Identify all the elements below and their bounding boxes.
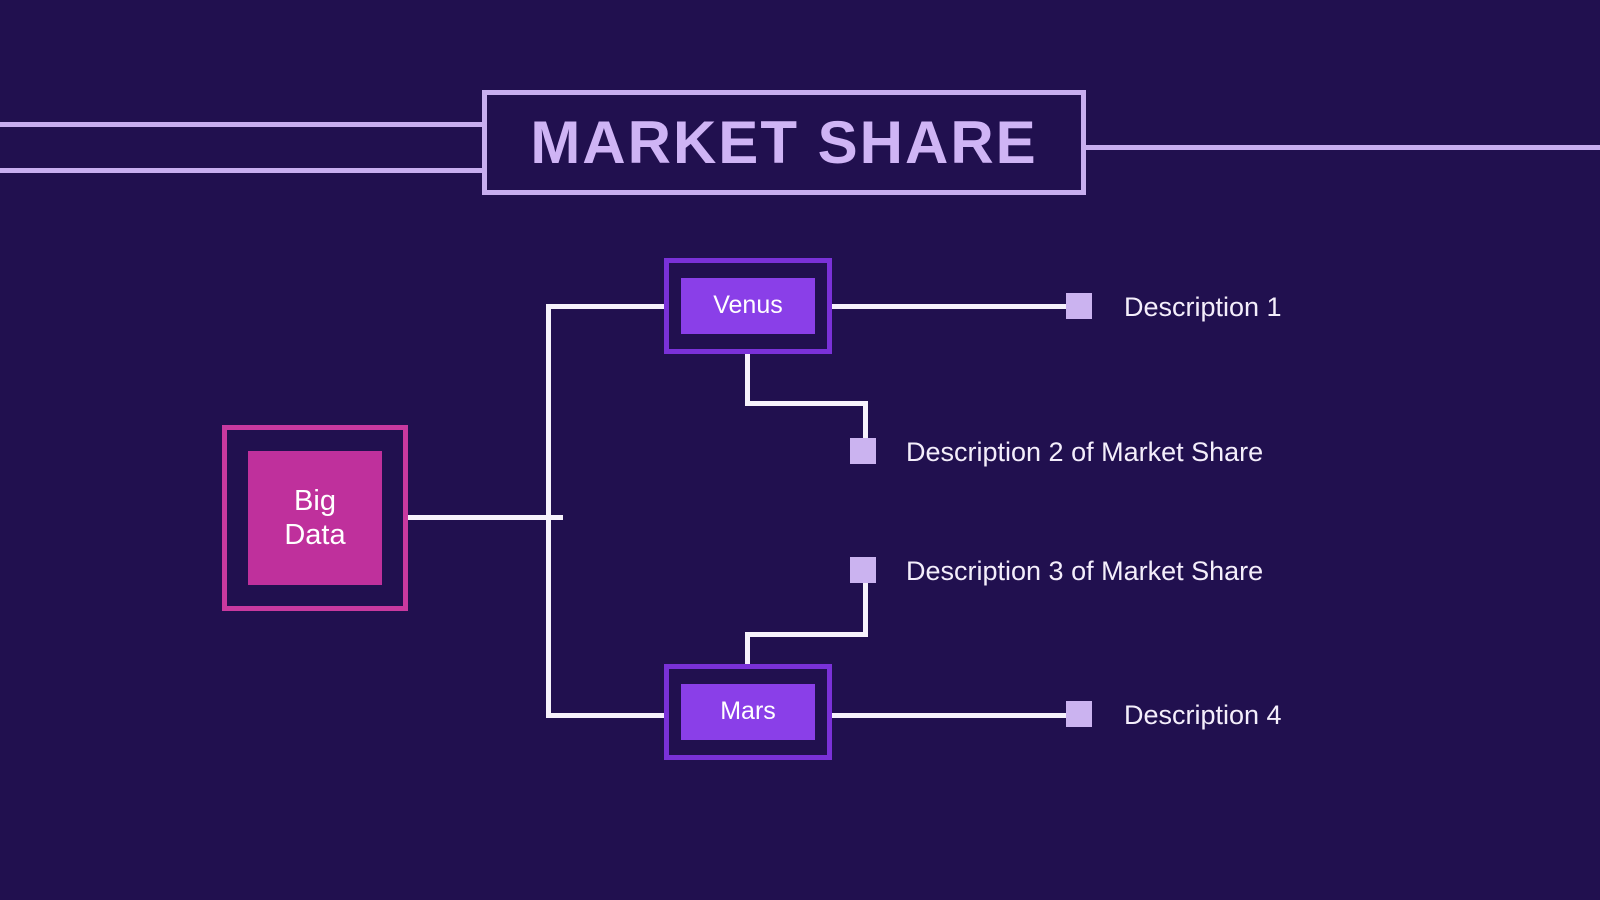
- connector-mars-to-description-4: [810, 713, 1072, 718]
- node-mars-label: Mars: [720, 697, 776, 727]
- connector-description-3-rise: [863, 578, 868, 635]
- description-3-label: Description 3 of Market Share: [906, 556, 1263, 587]
- description-4-label: Description 4: [1124, 700, 1282, 731]
- connector-description-2-drop: [863, 401, 868, 443]
- diagram-canvas: MARKET SHARE Big Data Venus: [0, 0, 1600, 900]
- node-venus[interactable]: Venus: [664, 258, 832, 354]
- description-1-label: Description 1: [1124, 292, 1282, 323]
- title-rule-left-bottom: [0, 168, 486, 173]
- description-1-marker: [1066, 293, 1092, 319]
- title-rule-right: [1086, 145, 1600, 150]
- connector-trunk-vertical: [546, 304, 551, 718]
- node-mars-body: Mars: [681, 684, 815, 740]
- connector-venus-to-description-1: [810, 304, 1072, 309]
- node-big-data-label-line1: Big: [294, 485, 336, 517]
- description-2-marker: [850, 438, 876, 464]
- title-rule-left-top: [0, 122, 486, 127]
- connector-mars-to-description-3: [745, 632, 868, 637]
- page-title: MARKET SHARE: [530, 113, 1037, 173]
- node-big-data-label-line2: Data: [284, 519, 345, 551]
- node-big-data-body: Big Data: [248, 451, 382, 585]
- node-venus-body: Venus: [681, 278, 815, 334]
- node-mars[interactable]: Mars: [664, 664, 832, 760]
- node-big-data-label: Big Data: [284, 484, 345, 552]
- description-2-label: Description 2 of Market Share: [906, 437, 1263, 468]
- page-title-box: MARKET SHARE: [482, 90, 1086, 195]
- description-4-marker: [1066, 701, 1092, 727]
- description-3-marker: [850, 557, 876, 583]
- connector-root-to-trunk: [408, 515, 563, 520]
- node-big-data[interactable]: Big Data: [222, 425, 408, 611]
- node-venus-label: Venus: [713, 291, 783, 321]
- connector-venus-to-description-2: [745, 401, 868, 406]
